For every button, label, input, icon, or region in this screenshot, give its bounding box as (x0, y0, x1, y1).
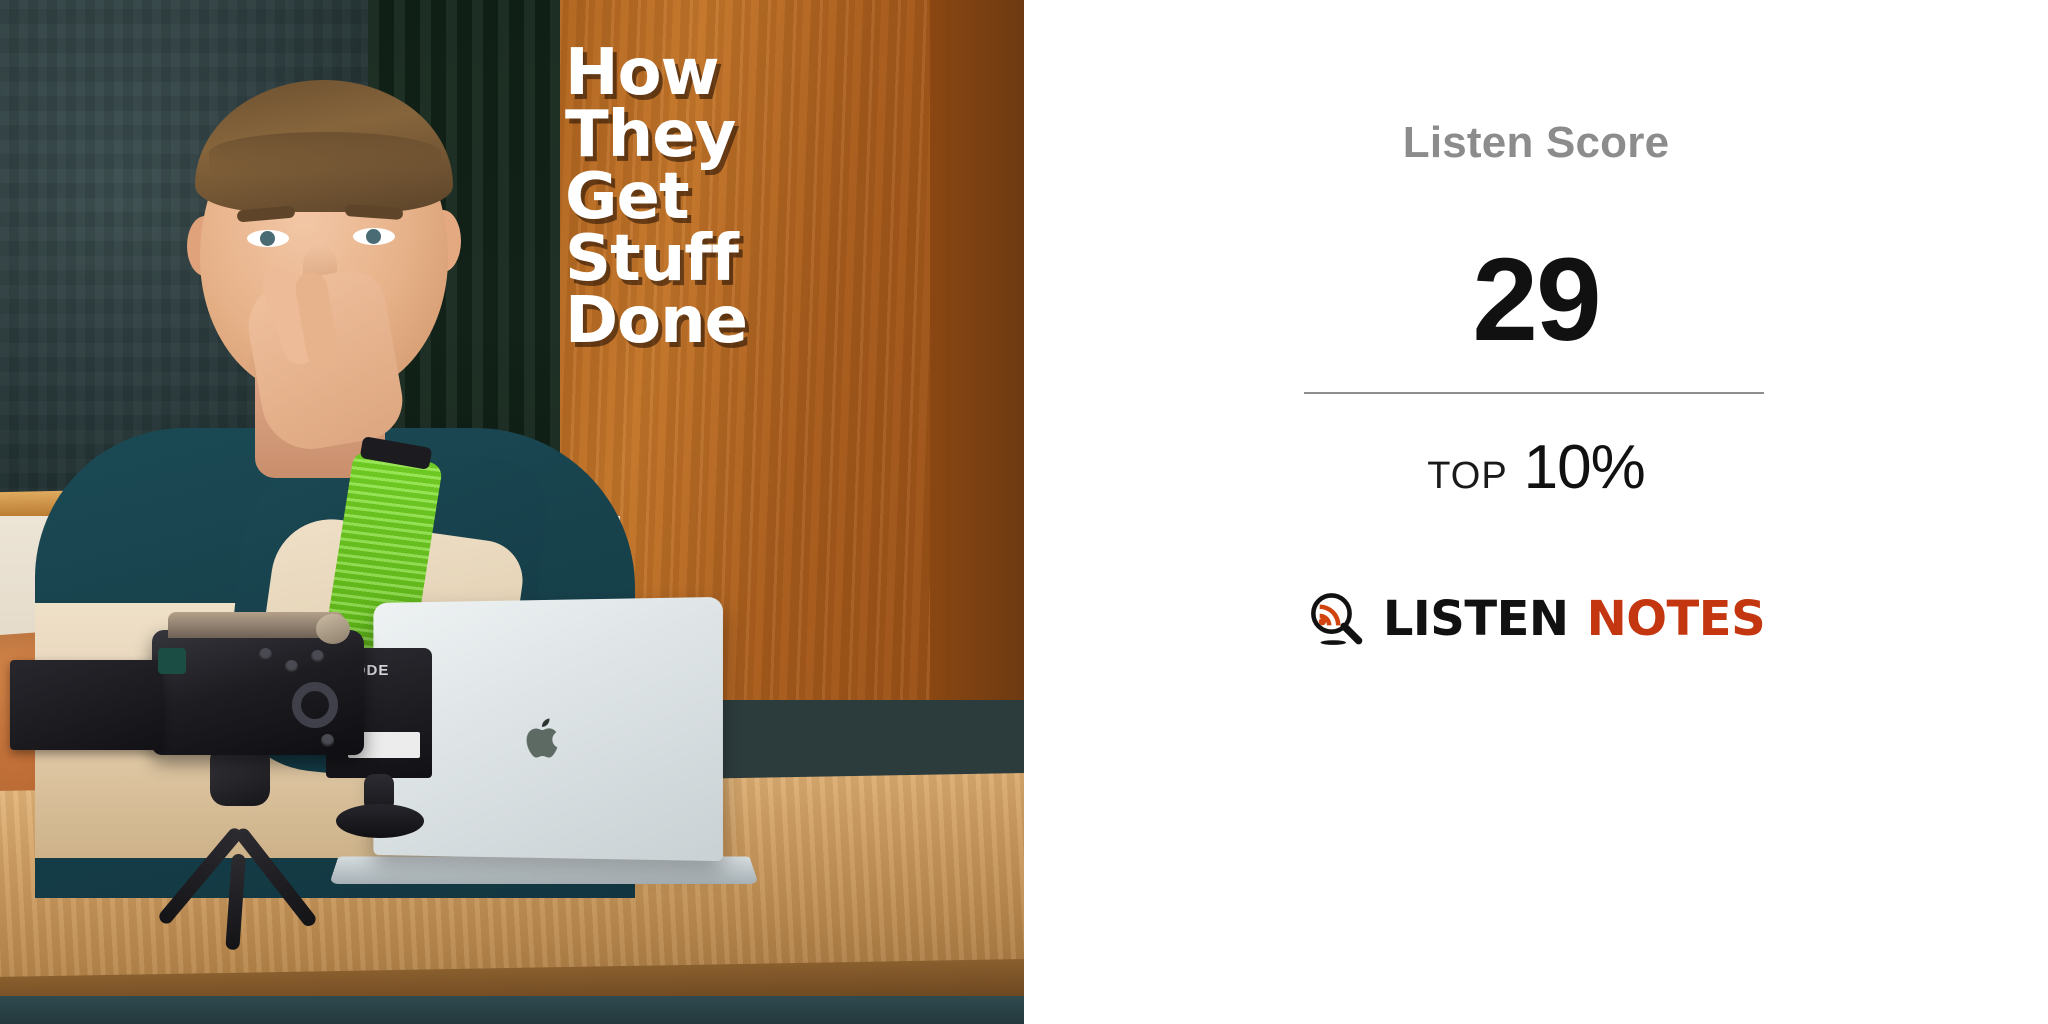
floor (0, 996, 1024, 1024)
camera-button (285, 660, 298, 673)
rank-percentile-value: 10% (1524, 432, 1645, 503)
score-divider (1304, 392, 1764, 394)
hair (195, 80, 453, 212)
listen-score-panel: Listen Score 29 TOP 10% LI (1024, 0, 2048, 1024)
listen-notes-logo[interactable]: LISTEN NOTES (1024, 590, 2048, 648)
logo-word-notes: NOTES (1587, 595, 1766, 643)
listen-score-card: RØDE How They Get Stuff Done L (0, 0, 2048, 1024)
rank-prefix-label: TOP (1427, 455, 1507, 498)
tripod-leg (233, 826, 318, 929)
tripod-leg (225, 854, 246, 951)
camera-mode-dial (316, 614, 350, 644)
camera-button (321, 734, 334, 747)
title-line-1: How (565, 42, 747, 104)
camera-flip-screen (10, 660, 162, 750)
title-line-2: They (565, 104, 747, 166)
title-line-3: Get (565, 166, 747, 228)
microphone-base (336, 804, 424, 838)
podcast-cover-art[interactable]: RØDE How They Get Stuff Done (0, 0, 1024, 1024)
magnifying-glass-rss-icon (1307, 590, 1365, 648)
camera-button (311, 650, 324, 663)
wood-wall-shadow (930, 0, 1024, 700)
podcast-title: How They Get Stuff Done (565, 42, 747, 352)
eye-left (247, 230, 289, 247)
listen-score-rank: TOP 10% (1024, 432, 2048, 503)
camera-tripod (140, 750, 340, 950)
title-line-5: Done (565, 290, 747, 352)
listen-score-value: 29 (1024, 232, 2048, 368)
title-line-4: Stuff (565, 228, 747, 290)
camera-control-wheel (292, 682, 338, 728)
eye-right (353, 228, 395, 245)
listen-score-label: Listen Score (1024, 118, 2048, 168)
camera-viewfinder (158, 648, 186, 674)
camera-button (259, 648, 272, 661)
logo-word-listen: LISTEN (1383, 595, 1569, 643)
apple-logo-icon (521, 712, 567, 764)
